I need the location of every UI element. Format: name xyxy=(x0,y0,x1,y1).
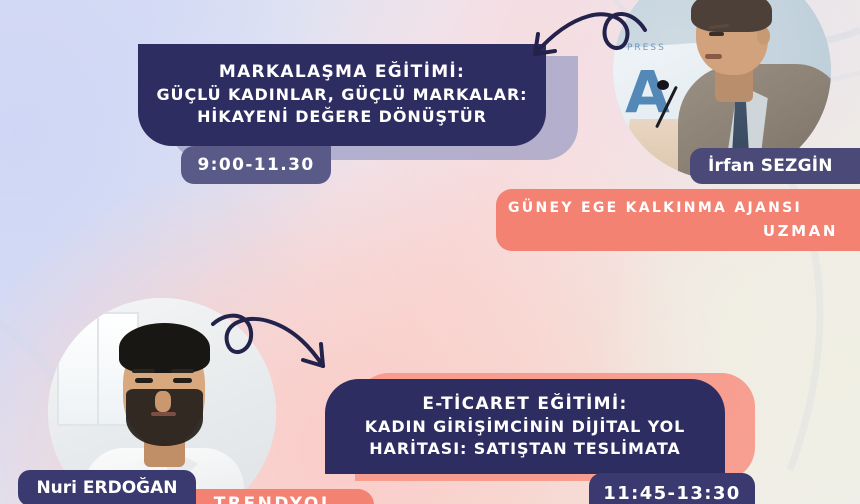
session-2-title-line-2: KADIN GİRİŞİMCİNİN DİJİTAL YOL xyxy=(365,417,686,436)
session-1-title-card: MARKALAŞMA EĞİTİMİ: GÜÇLÜ KADINLAR, GÜÇL… xyxy=(138,44,546,146)
speaker-1-role: UZMAN xyxy=(508,222,838,240)
session-1-title-line-3: HİKAYENİ DEĞERE DÖNÜŞTÜR xyxy=(197,107,487,126)
speaker-1-organization-banner: GÜNEY EGE KALKINMA AJANSI UZMAN xyxy=(496,189,860,251)
speaker-2-organization-banner: TRENDYOL xyxy=(174,489,374,504)
session-2-title-card: E-TİCARET EĞİTİMİ: KADIN GİRİŞİMCİNİN Dİ… xyxy=(325,379,725,474)
session-2-title-line-1: E-TİCARET EĞİTİMİ: xyxy=(422,394,627,414)
speaker-1-organization: GÜNEY EGE KALKINMA AJANSI xyxy=(508,200,838,216)
session-1-title-line-1: MARKALAŞMA EĞİTİMİ: xyxy=(219,62,465,82)
event-poster: MARKALAŞMA EĞİTİMİ: GÜÇLÜ KADINLAR, GÜÇL… xyxy=(0,0,860,504)
session-1-title-line-2: GÜÇLÜ KADINLAR, GÜÇLÜ MARKALAR: xyxy=(157,85,528,104)
session-1-time-badge: 9:00-11.30 xyxy=(181,146,331,184)
session-2-title-line-3: HARİTASI: SATIŞTAN TESLİMATA xyxy=(369,439,680,458)
speaker-2-name-badge: Nuri ERDOĞAN xyxy=(18,470,196,504)
session-2-time-badge: 11:45-13:30 xyxy=(589,473,755,504)
speaker-1-name-badge: İrfan SEZGİN xyxy=(690,148,860,184)
